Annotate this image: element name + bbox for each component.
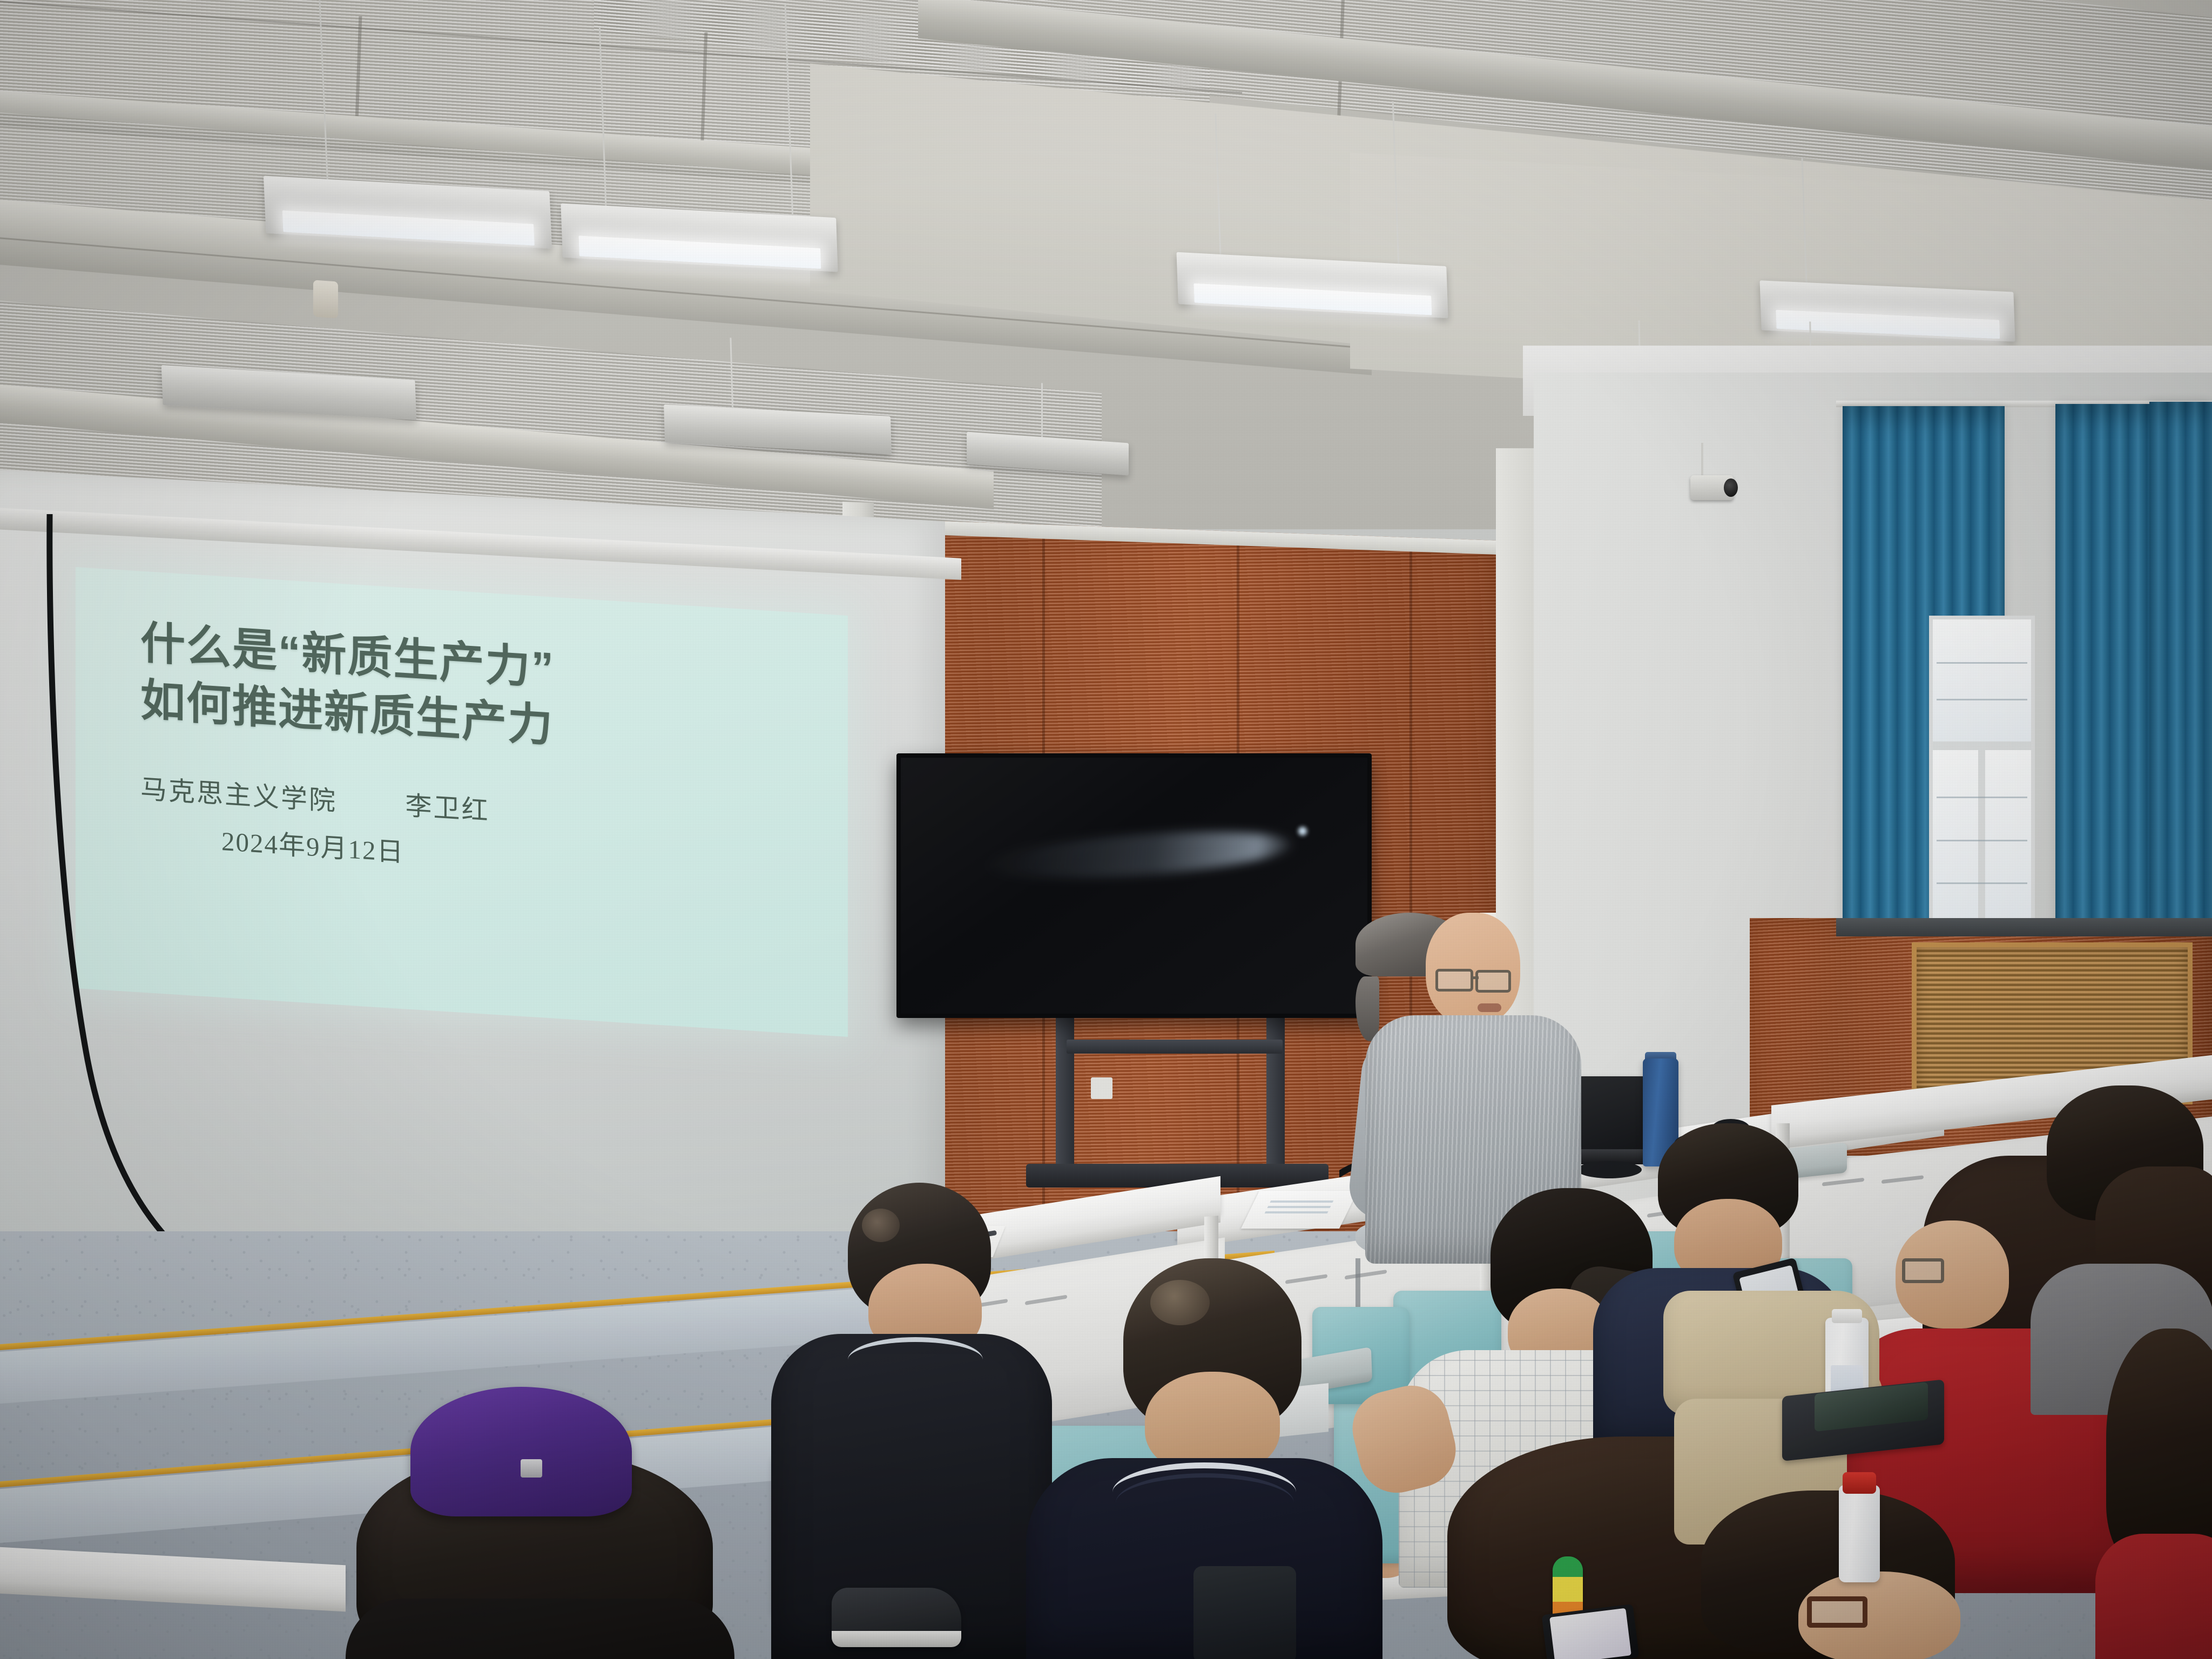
bottle-cap-red [1843, 1472, 1876, 1494]
display-glare [984, 824, 1294, 886]
security-camera-icon [1690, 475, 1734, 500]
glasses-icon [1435, 969, 1473, 992]
glasses-icon-right [1475, 970, 1511, 993]
display-power-outlet [1091, 1077, 1112, 1099]
window [1929, 616, 2035, 929]
bottom-left-desk [0, 1555, 346, 1659]
audience-member-purple-cap [302, 1372, 734, 1659]
baseball-cap [410, 1387, 632, 1516]
curtain-far-right[interactable] [2149, 402, 2212, 958]
presenter-sideburn [1355, 976, 1379, 1041]
display-stand-leg-left [1056, 1010, 1074, 1183]
flat-panel-display[interactable] [896, 753, 1372, 1018]
glasses-bridge [1472, 976, 1479, 979]
display-reflection-dot [1298, 827, 1307, 835]
bag-under-desk [1193, 1566, 1296, 1659]
slide-speaker: 李卫红 [406, 791, 490, 826]
ceiling-sensor-icon [313, 280, 338, 318]
shoe-sole [832, 1631, 961, 1647]
camera-mount [1701, 443, 1703, 477]
audience-member-far-right-edge [2095, 1328, 2212, 1659]
glasses-icon-bottom [1807, 1596, 1867, 1628]
hanging-cable [45, 514, 299, 1324]
water-bottle-red-cap [1839, 1485, 1880, 1582]
window-sill [1836, 918, 2212, 936]
classroom-photo: 什么是“新质生产力” 如何推进新质生产力 马克思主义学院 李卫红 2024年9月… [0, 0, 2212, 1659]
display-stand-shelf [1067, 1040, 1283, 1054]
presenter-mouth [1478, 1003, 1501, 1012]
glasses-icon-audience [1902, 1258, 1944, 1283]
bottle-cap-white [1832, 1309, 1862, 1323]
